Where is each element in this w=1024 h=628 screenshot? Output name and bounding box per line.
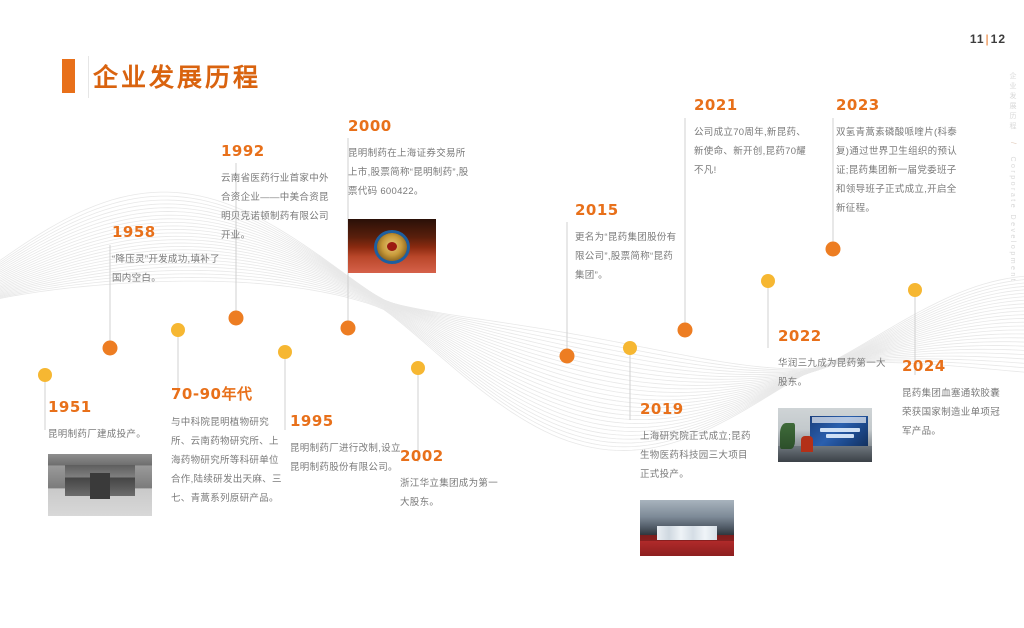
speaker-figure <box>801 436 813 452</box>
timeline-entry-2002[interactable]: 2002 浙江华立集团成为第一大股东。 <box>400 447 506 512</box>
timeline-entry-1951[interactable]: 1951 昆明制药厂建成投产。 <box>48 398 166 516</box>
heading-accent-bar <box>62 59 75 93</box>
timeline-node-2022[interactable] <box>761 274 775 288</box>
entry-description: 昆明制药在上海证券交易所上市,股票简称“昆明制药”,股票代码 600422。 <box>348 144 470 201</box>
entry-year: 2024 <box>902 357 1002 375</box>
entry-description: “降压灵”开发成功,填补了国内空白。 <box>112 250 224 288</box>
timeline-stem-1958 <box>110 245 111 348</box>
slide-page: 11|12 企业发展历程 企业发展历程 / Corporate Developm… <box>0 0 1024 628</box>
timeline-stem-70-90 <box>178 330 179 388</box>
entry-description: 昆明制药厂进行改制,设立昆明制药股份有限公司。 <box>290 439 402 477</box>
entry-year: 2023 <box>836 96 964 114</box>
side-vertical-label: 企业发展历程 / Corporate Development <box>996 72 1018 283</box>
side-label-cn: 企业发展历程 <box>1009 72 1016 132</box>
stock-listing-gong-photo <box>348 219 436 273</box>
timeline-entry-70-90[interactable]: 70-90年代 与中科院昆明植物研究所、云南药物研究所、上海药物研究所等科研单位… <box>171 383 283 508</box>
timeline-entry-1958[interactable]: 1958 “降压灵”开发成功,填补了国内空白。 <box>112 223 224 288</box>
entry-description: 浙江华立集团成为第一大股东。 <box>400 474 506 512</box>
entry-description: 华润三九成为昆药第一大股东。 <box>778 354 888 392</box>
page-title-block: 企业发展历程 <box>62 58 261 94</box>
timeline-node-2000[interactable] <box>341 321 356 336</box>
timeline-entry-2021[interactable]: 2021 公司成立70周年,新昆药、新使命、新开创,昆药70耀不凡! <box>694 96 812 180</box>
entry-description: 双氢青蒿素磷酸哌喹片(科泰复)通过世界卫生组织的预认证;昆药集团新一届党委班子和… <box>836 123 964 218</box>
timeline-stem-2021 <box>685 118 686 330</box>
timeline-node-2019[interactable] <box>623 341 637 355</box>
timeline-node-2002[interactable] <box>411 361 425 375</box>
screen-header-band <box>812 417 867 423</box>
entry-description: 昆明制药厂建成投产。 <box>48 425 166 444</box>
entry-year: 70-90年代 <box>171 383 283 404</box>
screen-caption-lines <box>816 426 865 440</box>
entry-year: 1992 <box>221 142 333 160</box>
timeline-stem-2015 <box>567 222 568 356</box>
timeline-stem-2022 <box>768 281 769 348</box>
page-number: 11|12 <box>970 32 1006 46</box>
side-label-slash: / <box>1009 142 1016 146</box>
management-conference-photo <box>778 408 872 462</box>
plant-decoration <box>780 423 795 449</box>
side-label-en: Corporate Development <box>1009 156 1016 283</box>
timeline-entry-2015[interactable]: 2015 更名为“昆药集团股份有限公司”,股票简称“昆药集团”。 <box>575 201 681 285</box>
timeline-stem-2019 <box>630 348 631 420</box>
timeline-entry-2000[interactable]: 2000 昆明制药在上海证券交易所上市,股票简称“昆明制药”,股票代码 6004… <box>348 117 470 273</box>
timeline-node-2024[interactable] <box>908 283 922 297</box>
timeline-node-2015[interactable] <box>560 349 575 364</box>
page-number-current: 11 <box>970 32 985 46</box>
timeline-node-2023[interactable] <box>826 242 841 257</box>
entry-description: 与中科院昆明植物研究所、云南药物研究所、上海药物研究所等科研单位合作,陆续研发出… <box>171 413 283 508</box>
timeline-entry-2024[interactable]: 2024 昆药集团血塞通软胶囊荣获国家制造业单项冠军产品。 <box>902 357 1002 441</box>
entry-year: 1951 <box>48 398 166 416</box>
timeline-entry-1995[interactable]: 1995 昆明制药厂进行改制,设立昆明制药股份有限公司。 <box>290 412 402 477</box>
timeline-node-1995[interactable] <box>278 345 292 359</box>
timeline-node-2021[interactable] <box>678 323 693 338</box>
park-opening-ceremony-photo <box>640 500 734 556</box>
entry-year: 2002 <box>400 447 506 465</box>
entry-description: 公司成立70周年,新昆药、新使命、新开创,昆药70耀不凡! <box>694 123 812 180</box>
page-number-total: 12 <box>991 32 1006 46</box>
timeline-stem-2023 <box>833 118 834 249</box>
entry-year: 1958 <box>112 223 224 241</box>
entry-year: 2021 <box>694 96 812 114</box>
timeline-entry-2022[interactable]: 2022 华润三九成为昆药第一大股东。 <box>778 327 888 462</box>
entry-description: 云南省医药行业首家中外合资企业——中美合资昆明贝克诺顿制药有限公司开业。 <box>221 169 333 245</box>
page-title: 企业发展历程 <box>93 58 261 94</box>
entry-description: 更名为“昆药集团股份有限公司”,股票简称“昆药集团”。 <box>575 228 681 285</box>
timeline-stem-1951 <box>45 375 46 430</box>
timeline-node-1992[interactable] <box>229 311 244 326</box>
entry-year: 2019 <box>640 400 756 418</box>
timeline-entry-2019[interactable]: 2019 上海研究院正式成立;昆药生物医药科技园三大项目正式投产。 <box>640 400 756 556</box>
timeline-node-70-90[interactable] <box>171 323 185 337</box>
entry-year: 2022 <box>778 327 888 345</box>
timeline-node-1958[interactable] <box>103 341 118 356</box>
entry-description: 昆药集团血塞通软胶囊荣获国家制造业单项冠军产品。 <box>902 384 1002 441</box>
timeline-entry-2023[interactable]: 2023 双氢青蒿素磷酸哌喹片(科泰复)通过世界卫生组织的预认证;昆药集团新一届… <box>836 96 964 218</box>
timeline-entry-1992[interactable]: 1992 云南省医药行业首家中外合资企业——中美合资昆明贝克诺顿制药有限公司开业… <box>221 142 333 245</box>
entry-year: 2000 <box>348 117 470 135</box>
entry-year: 1995 <box>290 412 402 430</box>
timeline-stem-1995 <box>285 352 286 430</box>
entry-year: 2015 <box>575 201 681 219</box>
timeline-node-1951[interactable] <box>38 368 52 382</box>
entry-description: 上海研究院正式成立;昆药生物医药科技园三大项目正式投产。 <box>640 427 756 484</box>
factory-gate-photo <box>48 454 152 516</box>
